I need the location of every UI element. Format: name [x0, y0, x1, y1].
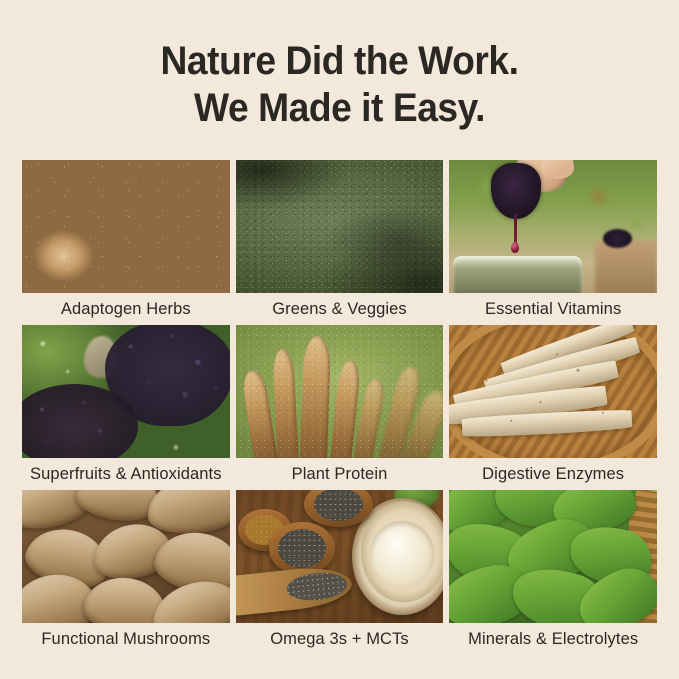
ingredient-label-adaptogen-herbs: Adaptogen Herbs	[22, 293, 230, 325]
ingredient-image-plant-protein	[236, 325, 444, 458]
ingredient-label-greens-veggies: Greens & Veggies	[236, 293, 444, 325]
maitake-mushrooms-photo	[22, 490, 230, 623]
ingredient-image-adaptogen-herbs	[22, 160, 230, 293]
ingredient-tile-minerals-electrolytes[interactable]: Minerals & Electrolytes	[449, 490, 657, 655]
page-title: Nature Did the Work. We Made it Easy.	[24, 38, 655, 132]
acai-berries-photo	[22, 325, 230, 458]
burdock-roots-basket-photo	[449, 325, 657, 458]
ingredient-tile-functional-mushrooms[interactable]: Functional Mushrooms	[22, 490, 230, 655]
ingredient-label-plant-protein: Plant Protein	[236, 458, 444, 490]
ingredient-tile-omega-3s-mcts[interactable]: Omega 3s + MCTs	[236, 490, 444, 655]
ingredient-label-essential-vitamins: Essential Vitamins	[449, 293, 657, 325]
ingredient-image-superfruits-antioxidants	[22, 325, 230, 458]
ingredient-label-omega-3s-mcts: Omega 3s + MCTs	[236, 623, 444, 655]
amaranth-seed-heads-photo	[236, 325, 444, 458]
spinach-leaves-photo	[449, 490, 657, 623]
ingredient-tile-greens-veggies[interactable]: Greens & Veggies	[236, 160, 444, 325]
ingredient-tile-adaptogen-herbs[interactable]: Adaptogen Herbs	[22, 160, 230, 325]
ingredient-image-greens-veggies	[236, 160, 444, 293]
ingredient-image-omega-3s-mcts	[236, 490, 444, 623]
ingredient-label-minerals-electrolytes: Minerals & Electrolytes	[449, 623, 657, 655]
promo-graphic: Nature Did the Work. We Made it Easy. Ad…	[0, 0, 679, 679]
ingredient-image-functional-mushrooms	[22, 490, 230, 623]
adaptogen-roots-photo	[22, 160, 230, 293]
ingredient-tile-superfruits-antioxidants[interactable]: Superfruits & Antioxidants	[22, 325, 230, 490]
ingredient-image-essential-vitamins	[449, 160, 657, 293]
ingredient-grid: Adaptogen Herbs Greens & Veggies Essenti…	[22, 160, 657, 655]
headline-line-2: We Made it Easy.	[24, 85, 655, 132]
ingredient-tile-plant-protein[interactable]: Plant Protein	[236, 325, 444, 490]
ingredient-tile-essential-vitamins[interactable]: Essential Vitamins	[449, 160, 657, 325]
ingredient-label-digestive-enzymes: Digestive Enzymes	[449, 458, 657, 490]
ingredient-label-functional-mushrooms: Functional Mushrooms	[22, 623, 230, 655]
ingredient-image-minerals-electrolytes	[449, 490, 657, 623]
ingredient-tile-digestive-enzymes[interactable]: Digestive Enzymes	[449, 325, 657, 490]
ingredient-label-superfruits-antioxidants: Superfruits & Antioxidants	[22, 458, 230, 490]
greens-powder-photo	[236, 160, 444, 293]
headline-line-1: Nature Did the Work.	[161, 39, 519, 83]
elderberry-squeeze-photo	[449, 160, 657, 293]
ingredient-image-digestive-enzymes	[449, 325, 657, 458]
chia-seeds-coconut-photo	[236, 490, 444, 623]
